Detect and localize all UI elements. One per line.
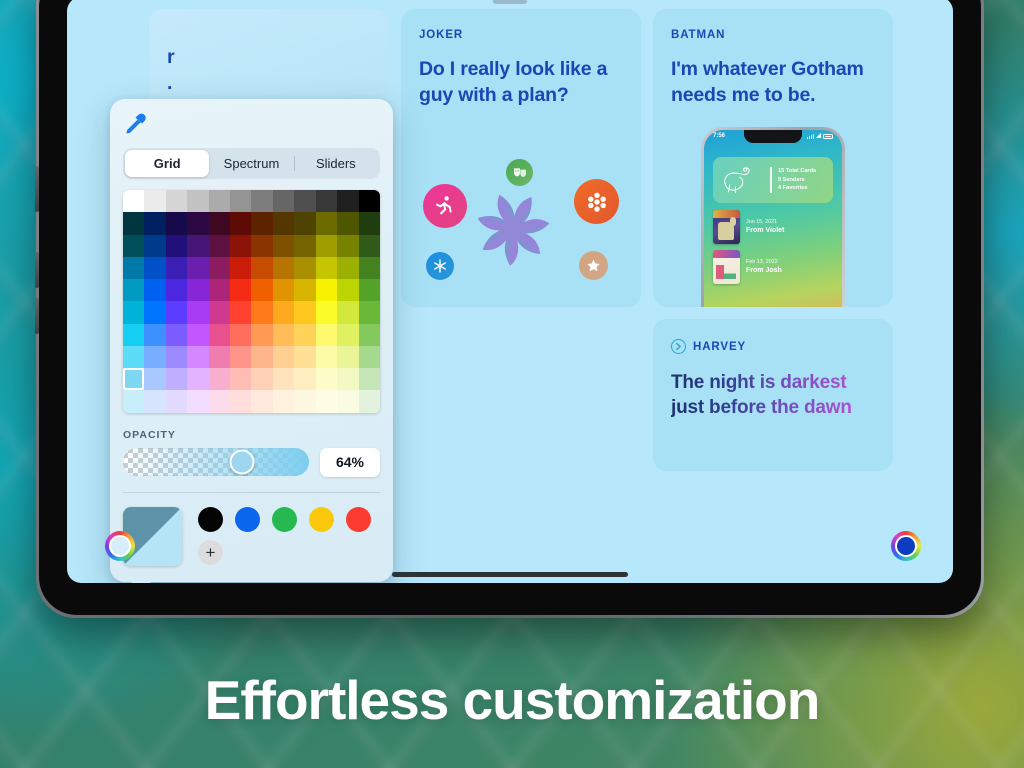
person-falling-icon	[423, 184, 467, 228]
color-swatch[interactable]	[316, 190, 337, 212]
card-harvey[interactable]: HARVEY The night is darkest just before …	[653, 319, 893, 471]
color-swatch[interactable]	[251, 301, 272, 323]
card-tag-batman: BATMAN	[671, 29, 875, 41]
volume-up-button[interactable]	[35, 252, 39, 288]
color-swatch[interactable]	[359, 324, 380, 346]
color-swatch[interactable]	[294, 346, 315, 368]
opacity-slider[interactable]	[123, 448, 309, 476]
card-quote-line1: I'm whatever Gotham	[671, 57, 875, 83]
color-swatch[interactable]	[144, 324, 165, 346]
color-swatch[interactable]	[316, 324, 337, 346]
color-swatch[interactable]	[273, 346, 294, 368]
color-swatch[interactable]	[209, 279, 230, 301]
color-swatch[interactable]	[273, 212, 294, 234]
color-swatch[interactable]	[273, 368, 294, 390]
card-date: Jun 15, 2021	[746, 219, 784, 226]
eyedropper-icon[interactable]	[123, 111, 149, 137]
opacity-label: OPACITY	[123, 429, 380, 441]
color-swatch[interactable]	[166, 190, 187, 212]
color-swatch[interactable]	[166, 301, 187, 323]
color-well-left-fill	[109, 535, 131, 557]
phone-mockup: 7:56 ◢	[701, 127, 845, 307]
phone-notch	[744, 130, 802, 143]
card-joker[interactable]: JOKER Do I really look like a guy with a…	[401, 9, 641, 307]
pull-handle[interactable]	[493, 0, 527, 4]
pinwheel-icon	[471, 187, 555, 271]
color-swatch[interactable]	[337, 368, 358, 390]
tab-grid[interactable]: Grid	[125, 150, 209, 177]
summary-line-1: 15 Total Cards	[778, 167, 816, 175]
color-swatch[interactable]	[166, 235, 187, 257]
recent-colors-row: +	[123, 507, 380, 566]
opacity-row: 64%	[123, 448, 380, 477]
color-swatch[interactable]	[316, 346, 337, 368]
opacity-value-field[interactable]: 64%	[320, 448, 380, 477]
color-swatch[interactable]	[187, 190, 208, 212]
card-quote-line1: r	[167, 45, 371, 71]
color-swatch[interactable]	[251, 190, 272, 212]
color-swatch[interactable]	[359, 257, 380, 279]
divider	[123, 492, 380, 493]
color-swatch[interactable]	[144, 301, 165, 323]
color-swatch[interactable]	[209, 257, 230, 279]
color-swatch[interactable]	[230, 301, 251, 323]
color-swatch[interactable]	[316, 212, 337, 234]
add-swatch-row: +	[198, 540, 371, 565]
chevron-right-circle-icon	[671, 339, 686, 354]
color-swatch[interactable]	[251, 346, 272, 368]
color-swatch[interactable]	[166, 390, 187, 412]
color-swatch[interactable]	[337, 301, 358, 323]
tablet-screen: r . JOKER Do I really look like a guy wi…	[67, 0, 953, 583]
color-swatch[interactable]	[144, 190, 165, 212]
color-swatch[interactable]	[337, 257, 358, 279]
color-swatch[interactable]	[123, 279, 144, 301]
color-swatch[interactable]	[294, 257, 315, 279]
color-swatch[interactable]	[359, 212, 380, 234]
phone-summary-card: 15 Total Cards 9 Senders 4 Favorites	[713, 157, 833, 203]
color-swatch[interactable]	[123, 368, 144, 390]
color-swatch[interactable]	[359, 301, 380, 323]
color-swatch[interactable]	[187, 301, 208, 323]
color-swatch[interactable]	[316, 257, 337, 279]
color-picker-popover[interactable]: Grid Spectrum Sliders OPACITY 64%	[110, 99, 393, 582]
color-swatch[interactable]	[294, 301, 315, 323]
color-swatch[interactable]	[209, 390, 230, 412]
doodle-icon	[720, 163, 762, 197]
star-circle-icon	[579, 251, 608, 280]
phone-body: 7:56 ◢	[701, 127, 845, 307]
color-swatch[interactable]	[230, 368, 251, 390]
screenshot-stage: r . JOKER Do I really look like a guy wi…	[0, 0, 1024, 768]
color-swatch[interactable]	[359, 279, 380, 301]
color-swatch[interactable]	[337, 324, 358, 346]
tab-sliders[interactable]: Sliders	[294, 150, 378, 177]
color-swatch[interactable]	[294, 190, 315, 212]
color-swatch[interactable]	[359, 346, 380, 368]
card-quote-line2: .	[167, 71, 371, 97]
color-swatch[interactable]	[123, 257, 144, 279]
color-swatch[interactable]	[359, 190, 380, 212]
color-swatch[interactable]	[273, 235, 294, 257]
status-time: 7:56	[713, 133, 725, 139]
card-quote-line1: Do I really look like a	[419, 57, 623, 83]
wifi-icon: ◢	[816, 133, 821, 139]
color-swatch[interactable]	[337, 190, 358, 212]
card-quote-line2: guy with a plan?	[419, 83, 623, 109]
color-swatch[interactable]	[294, 212, 315, 234]
color-swatch[interactable]	[144, 390, 165, 412]
color-swatch[interactable]	[251, 368, 272, 390]
color-swatch[interactable]	[187, 324, 208, 346]
color-swatch[interactable]	[230, 235, 251, 257]
tablet-bezel: r . JOKER Do I really look like a guy wi…	[39, 0, 981, 615]
color-swatch[interactable]	[209, 368, 230, 390]
color-swatch[interactable]	[209, 212, 230, 234]
card-quote-line1: The night is darkest	[671, 370, 875, 395]
color-swatch[interactable]	[187, 235, 208, 257]
color-swatch[interactable]	[316, 279, 337, 301]
color-swatch[interactable]	[294, 324, 315, 346]
phone-card-row[interactable]: Feb 13, 2022 From Josh	[713, 250, 833, 284]
signal-icon	[807, 134, 814, 139]
color-swatch[interactable]	[144, 368, 165, 390]
color-swatch[interactable]	[144, 279, 165, 301]
color-swatch[interactable]	[251, 390, 272, 412]
snowflake-icon	[426, 252, 454, 280]
opacity-slider-thumb[interactable]	[230, 450, 255, 475]
card-quote-line2: just before the dawn	[671, 395, 875, 420]
color-swatch[interactable]	[144, 346, 165, 368]
color-swatch[interactable]	[166, 279, 187, 301]
color-swatch[interactable]	[230, 390, 251, 412]
color-swatch[interactable]	[230, 190, 251, 212]
color-swatch[interactable]	[187, 257, 208, 279]
recent-color-black[interactable]	[198, 507, 223, 532]
color-swatch[interactable]	[273, 279, 294, 301]
color-swatch[interactable]	[209, 235, 230, 257]
color-swatch[interactable]	[273, 301, 294, 323]
battery-icon	[823, 134, 833, 139]
card-sender: From Violet	[746, 226, 784, 235]
card-tag-harvey: HARVEY	[671, 339, 875, 354]
color-swatch[interactable]	[230, 212, 251, 234]
color-swatch[interactable]	[294, 279, 315, 301]
color-swatch[interactable]	[316, 390, 337, 412]
card-tag-label: HARVEY	[693, 341, 746, 353]
color-swatch[interactable]	[337, 346, 358, 368]
card-thumbnail	[713, 250, 740, 284]
recent-color-yellow[interactable]	[309, 507, 334, 532]
color-swatch[interactable]	[230, 324, 251, 346]
recent-color-blue[interactable]	[235, 507, 260, 532]
color-swatch[interactable]	[273, 257, 294, 279]
tab-spectrum[interactable]: Spectrum	[209, 150, 293, 177]
color-well-left[interactable]	[105, 531, 135, 561]
recent-color-green[interactable]	[272, 507, 297, 532]
color-swatch[interactable]	[337, 390, 358, 412]
color-well-right[interactable]	[891, 531, 921, 561]
color-swatch[interactable]	[251, 257, 272, 279]
color-swatch[interactable]	[251, 212, 272, 234]
card-tag-joker: JOKER	[419, 29, 623, 41]
phone-summary-stats: 15 Total Cards 9 Senders 4 Favorites	[770, 167, 816, 192]
theater-masks-icon	[506, 159, 533, 186]
color-swatch[interactable]	[123, 301, 144, 323]
color-swatch[interactable]	[123, 324, 144, 346]
card-batman[interactable]: BATMAN I'm whatever Gotham needs me to b…	[653, 9, 893, 307]
phone-card-row[interactable]: Jun 15, 2021 From Violet	[713, 210, 833, 244]
color-well-right-fill	[895, 535, 917, 557]
power-button[interactable]	[35, 166, 39, 212]
color-swatch[interactable]	[316, 368, 337, 390]
color-swatch[interactable]	[144, 212, 165, 234]
color-swatch[interactable]	[209, 301, 230, 323]
dots-circle-icon	[574, 179, 619, 224]
color-swatch[interactable]	[273, 190, 294, 212]
color-swatch[interactable]	[273, 324, 294, 346]
color-swatch[interactable]	[166, 324, 187, 346]
color-swatch[interactable]	[294, 368, 315, 390]
color-swatch[interactable]	[230, 257, 251, 279]
color-swatch-grid[interactable]	[123, 190, 380, 413]
color-swatch[interactable]	[209, 346, 230, 368]
color-swatch[interactable]	[294, 390, 315, 412]
color-swatch[interactable]	[166, 212, 187, 234]
opacity-slider-fill	[123, 448, 309, 476]
color-swatch[interactable]	[273, 390, 294, 412]
add-color-button[interactable]: +	[198, 540, 223, 565]
color-swatch[interactable]	[123, 190, 144, 212]
recent-color-dots	[198, 507, 371, 532]
color-swatch[interactable]	[316, 235, 337, 257]
color-swatch[interactable]	[230, 346, 251, 368]
color-swatch[interactable]	[187, 279, 208, 301]
color-swatch[interactable]	[123, 390, 144, 412]
summary-line-3: 4 Favorites	[778, 184, 816, 192]
color-swatch[interactable]	[123, 346, 144, 368]
color-swatch[interactable]	[123, 235, 144, 257]
color-swatch[interactable]	[230, 279, 251, 301]
color-swatch[interactable]	[166, 346, 187, 368]
color-swatch[interactable]	[187, 212, 208, 234]
color-swatch[interactable]	[359, 390, 380, 412]
popover-tail	[130, 581, 152, 583]
caption-text: Effortless customization	[0, 668, 1024, 732]
color-swatch[interactable]	[337, 235, 358, 257]
color-swatch[interactable]	[187, 346, 208, 368]
color-swatch[interactable]	[209, 190, 230, 212]
color-swatch[interactable]	[209, 324, 230, 346]
color-swatch[interactable]	[359, 235, 380, 257]
card-quote-line2: needs me to be.	[671, 83, 875, 109]
color-swatch[interactable]	[359, 368, 380, 390]
recent-color-red[interactable]	[346, 507, 371, 532]
color-swatch[interactable]	[144, 257, 165, 279]
color-swatch[interactable]	[316, 301, 337, 323]
color-swatch[interactable]	[144, 235, 165, 257]
color-swatch[interactable]	[166, 257, 187, 279]
color-swatch[interactable]	[187, 390, 208, 412]
color-swatch[interactable]	[294, 235, 315, 257]
color-swatch[interactable]	[123, 212, 144, 234]
color-swatch[interactable]	[251, 235, 272, 257]
home-indicator[interactable]	[392, 572, 628, 577]
color-swatch[interactable]	[337, 212, 358, 234]
picker-mode-tabs[interactable]: Grid Spectrum Sliders	[123, 148, 380, 179]
icon-cluster	[401, 159, 641, 299]
volume-down-button[interactable]	[35, 298, 39, 334]
card-date: Feb 13, 2022	[746, 259, 782, 266]
color-swatch[interactable]	[251, 279, 272, 301]
color-swatch[interactable]	[251, 324, 272, 346]
color-swatch[interactable]	[187, 368, 208, 390]
card-sender: From Josh	[746, 266, 782, 275]
phone-screen: 7:56 ◢	[704, 130, 842, 307]
summary-line-2: 9 Senders	[778, 176, 816, 184]
card-thumbnail	[713, 210, 740, 244]
color-swatch[interactable]	[166, 368, 187, 390]
tablet-device: r . JOKER Do I really look like a guy wi…	[36, 0, 984, 618]
color-swatch[interactable]	[337, 279, 358, 301]
